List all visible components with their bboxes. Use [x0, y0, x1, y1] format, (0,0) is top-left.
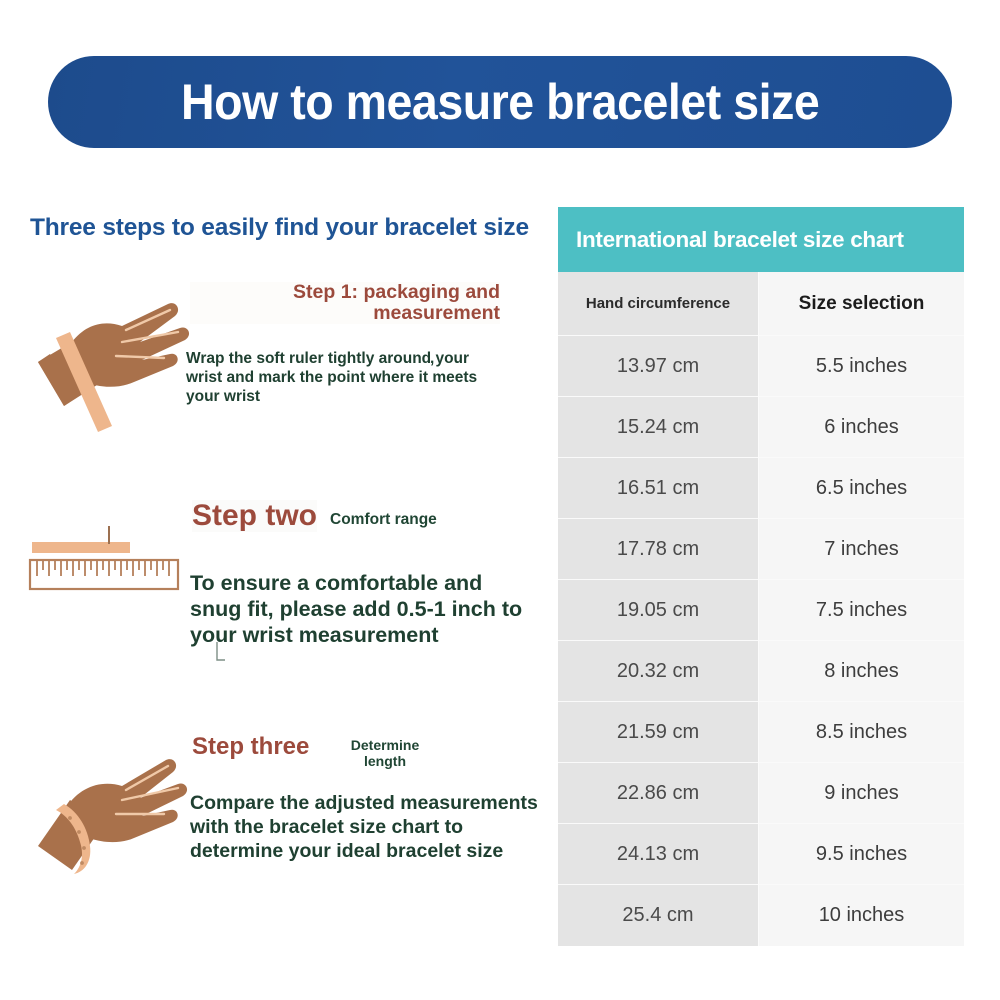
table-row: 20.32 cm8 inches — [558, 641, 964, 702]
step-2-subtitle: Comfort range — [330, 511, 437, 529]
step-1-title: Step 1: packaging and measurement — [190, 282, 500, 324]
ruler-icon — [18, 514, 198, 609]
table-rows-container: 13.97 cm5.5 inches15.24 cm6 inches16.51 … — [558, 336, 964, 946]
cell-hand-circumference: 22.86 cm — [558, 763, 758, 824]
cell-size-selection: 9.5 inches — [758, 824, 964, 885]
step-3-description: Compare the adjusted measurements with t… — [190, 792, 550, 863]
cell-hand-circumference: 15.24 cm — [558, 397, 758, 458]
step-item-3: Step three Determine length Compare the … — [0, 730, 552, 910]
step-item-2: Step two Comfort range To ensure a comfo… — [0, 500, 552, 680]
cell-size-selection: 6 inches — [758, 397, 964, 458]
text-cursor-icon — [214, 640, 228, 664]
step-1-trailing-mark: , — [430, 350, 434, 368]
hand-with-tape-measure-icon — [30, 280, 205, 440]
cell-size-selection: 7 inches — [758, 519, 964, 580]
table-header-row: Hand circumference Size selection — [558, 272, 964, 336]
cell-hand-circumference: 24.13 cm — [558, 824, 758, 885]
table-row: 21.59 cm8.5 inches — [558, 702, 964, 763]
hand-with-bracelet-illustration — [30, 742, 205, 887]
steps-panel: Three steps to easily find your bracelet… — [0, 200, 552, 980]
cell-size-selection: 10 inches — [758, 885, 964, 946]
step-item-1: Step 1: packaging and measurement Wrap t… — [0, 280, 552, 460]
step-3-title: Step three — [192, 734, 309, 760]
steps-heading: Three steps to easily find your bracelet… — [30, 214, 529, 242]
size-chart-table: Hand circumference Size selection 13.97 … — [558, 272, 964, 946]
size-chart-title: International bracelet size chart — [576, 227, 904, 253]
cell-hand-circumference: 20.32 cm — [558, 641, 758, 702]
step-2-title: Step two — [192, 500, 317, 532]
hand-with-bracelet-icon — [30, 742, 205, 887]
table-row: 17.78 cm7 inches — [558, 519, 964, 580]
table-row: 16.51 cm6.5 inches — [558, 458, 964, 519]
cell-size-selection: 9 inches — [758, 763, 964, 824]
column-header-size-selection: Size selection — [758, 272, 964, 336]
cell-size-selection: 7.5 inches — [758, 580, 964, 641]
table-row: 25.4 cm10 inches — [558, 885, 964, 946]
table-row: 22.86 cm9 inches — [558, 763, 964, 824]
size-chart-banner: International bracelet size chart — [558, 207, 964, 272]
cell-hand-circumference: 19.05 cm — [558, 580, 758, 641]
cell-size-selection: 6.5 inches — [758, 458, 964, 519]
cell-hand-circumference: 17.78 cm — [558, 519, 758, 580]
cell-hand-circumference: 16.51 cm — [558, 458, 758, 519]
page-title: How to measure bracelet size — [181, 73, 819, 131]
step-1-description: Wrap the soft ruler tightly around your … — [186, 350, 496, 407]
table-row: 13.97 cm5.5 inches — [558, 336, 964, 397]
cell-size-selection: 8 inches — [758, 641, 964, 702]
column-header-hand-circumference: Hand circumference — [558, 272, 758, 336]
step-3-subtitle: Determine length — [330, 738, 440, 769]
table-row: 19.05 cm7.5 inches — [558, 580, 964, 641]
cell-hand-circumference: 13.97 cm — [558, 336, 758, 397]
table-row: 24.13 cm9.5 inches — [558, 824, 964, 885]
cell-hand-circumference: 21.59 cm — [558, 702, 758, 763]
cell-size-selection: 5.5 inches — [758, 336, 964, 397]
hand-with-tape-measure-illustration — [30, 280, 205, 440]
step-2-description: To ensure a comfortable and snug fit, pl… — [190, 570, 535, 649]
page-title-banner: How to measure bracelet size — [48, 56, 952, 148]
ruler-illustration — [18, 514, 198, 609]
cell-size-selection: 8.5 inches — [758, 702, 964, 763]
table-row: 15.24 cm6 inches — [558, 397, 964, 458]
cell-hand-circumference: 25.4 cm — [558, 885, 758, 946]
